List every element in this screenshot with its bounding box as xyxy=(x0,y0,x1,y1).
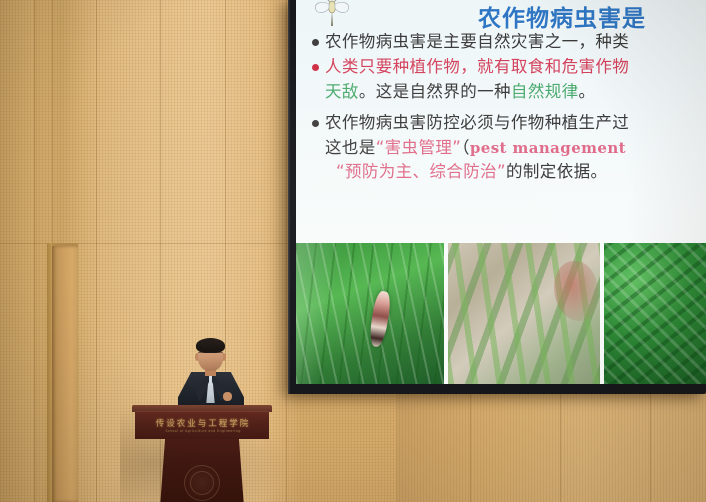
bullet-text: 。 xyxy=(579,82,596,101)
presenter-person xyxy=(176,338,246,414)
wall-panel-line xyxy=(96,0,97,502)
bullet-text: 人类只要种植作物， xyxy=(325,57,477,76)
bullet-text: 的制定依据。 xyxy=(506,162,607,181)
presenter-hair xyxy=(196,338,225,353)
bullet-text: 这也是 xyxy=(325,138,376,157)
insect-moth-icon xyxy=(310,0,354,28)
green-leaf-canopy-photo xyxy=(604,243,706,384)
slide-bullet-continuation: 天敌。这是自然界的一种自然规律。 xyxy=(312,80,706,103)
wall-column-left xyxy=(0,0,34,502)
slide-bullet-continuation: 这也是“害虫管理”（pest management xyxy=(312,136,706,160)
presenter-hand xyxy=(223,392,232,401)
recessed-doorway[interactable] xyxy=(52,246,78,502)
slide-body: 农作物病虫害是主要自然灾害之一，种类 人类只要种植作物，就有取食和危害作物 天敌… xyxy=(312,30,706,183)
wall-panel-line xyxy=(286,0,287,502)
bullet-text: 。这是自然界的一种 xyxy=(359,82,511,101)
bullet-dot-icon xyxy=(312,120,319,127)
presenter-glasses xyxy=(198,352,223,359)
bullet-text: “预防为主、综合防治” xyxy=(336,162,506,181)
slide-title: 农作物病虫害是 xyxy=(478,0,646,33)
podium-institution-name-cn: 传设农业与工程学院 xyxy=(147,417,259,429)
university-seal-emblem xyxy=(184,465,220,501)
podium-front-panel: 传设农业与工程学院 School of Agriculture and Engi… xyxy=(135,411,269,439)
slide-bullet: 农作物病虫害防控必须与作物种植生产过 xyxy=(312,111,706,134)
slide-photo-strip xyxy=(296,243,706,384)
slide-bullet: 农作物病虫害是主要自然灾害之一，种类 xyxy=(312,30,706,53)
rice-stem-with-larva-photo xyxy=(296,243,444,384)
bullet-dot-icon xyxy=(312,39,319,46)
projection-screen-bezel: 农作物病虫害是 农作物病虫害是主要自然灾害之一，种类 人类只要种植作物，就有取食… xyxy=(288,0,706,394)
lecture-hall-scene: 农作物病虫害是 农作物病虫害是主要自然灾害之一，种类 人类只要种植作物，就有取食… xyxy=(0,0,706,502)
podium-institution-name-en: School of Agriculture and Engineering xyxy=(147,429,259,433)
bullet-text: （ xyxy=(461,138,470,157)
slide-bullet-continuation: “预防为主、综合防治”的制定依据。 xyxy=(312,160,706,183)
presentation-slide: 农作物病虫害是 农作物病虫害是主要自然灾害之一，种类 人类只要种植作物，就有取食… xyxy=(296,0,706,384)
bullet-text: “害虫管理” xyxy=(376,138,462,157)
bullet-text: 天敌 xyxy=(325,82,359,101)
bullet-text: 自然规律 xyxy=(511,82,579,101)
slide-bullet: 人类只要种植作物，就有取食和危害作物 xyxy=(312,55,706,78)
bullet-text: 就有取食和危害作物 xyxy=(477,57,629,76)
bullet-text-english: pest management xyxy=(470,139,626,157)
bullet-text: 农作物病虫害防控必须与作物种植生产过 xyxy=(325,111,629,134)
lectern-podium: 传设农业与工程学院 School of Agriculture and Engi… xyxy=(132,405,272,502)
podium-column xyxy=(160,439,244,502)
bullet-text: 农作物病虫害是主要自然灾害之一，种类 xyxy=(325,30,629,53)
crop-stem-pest-damage-photo xyxy=(448,243,600,384)
wall-panel-line xyxy=(34,0,35,502)
bullet-dot-icon xyxy=(312,64,319,71)
